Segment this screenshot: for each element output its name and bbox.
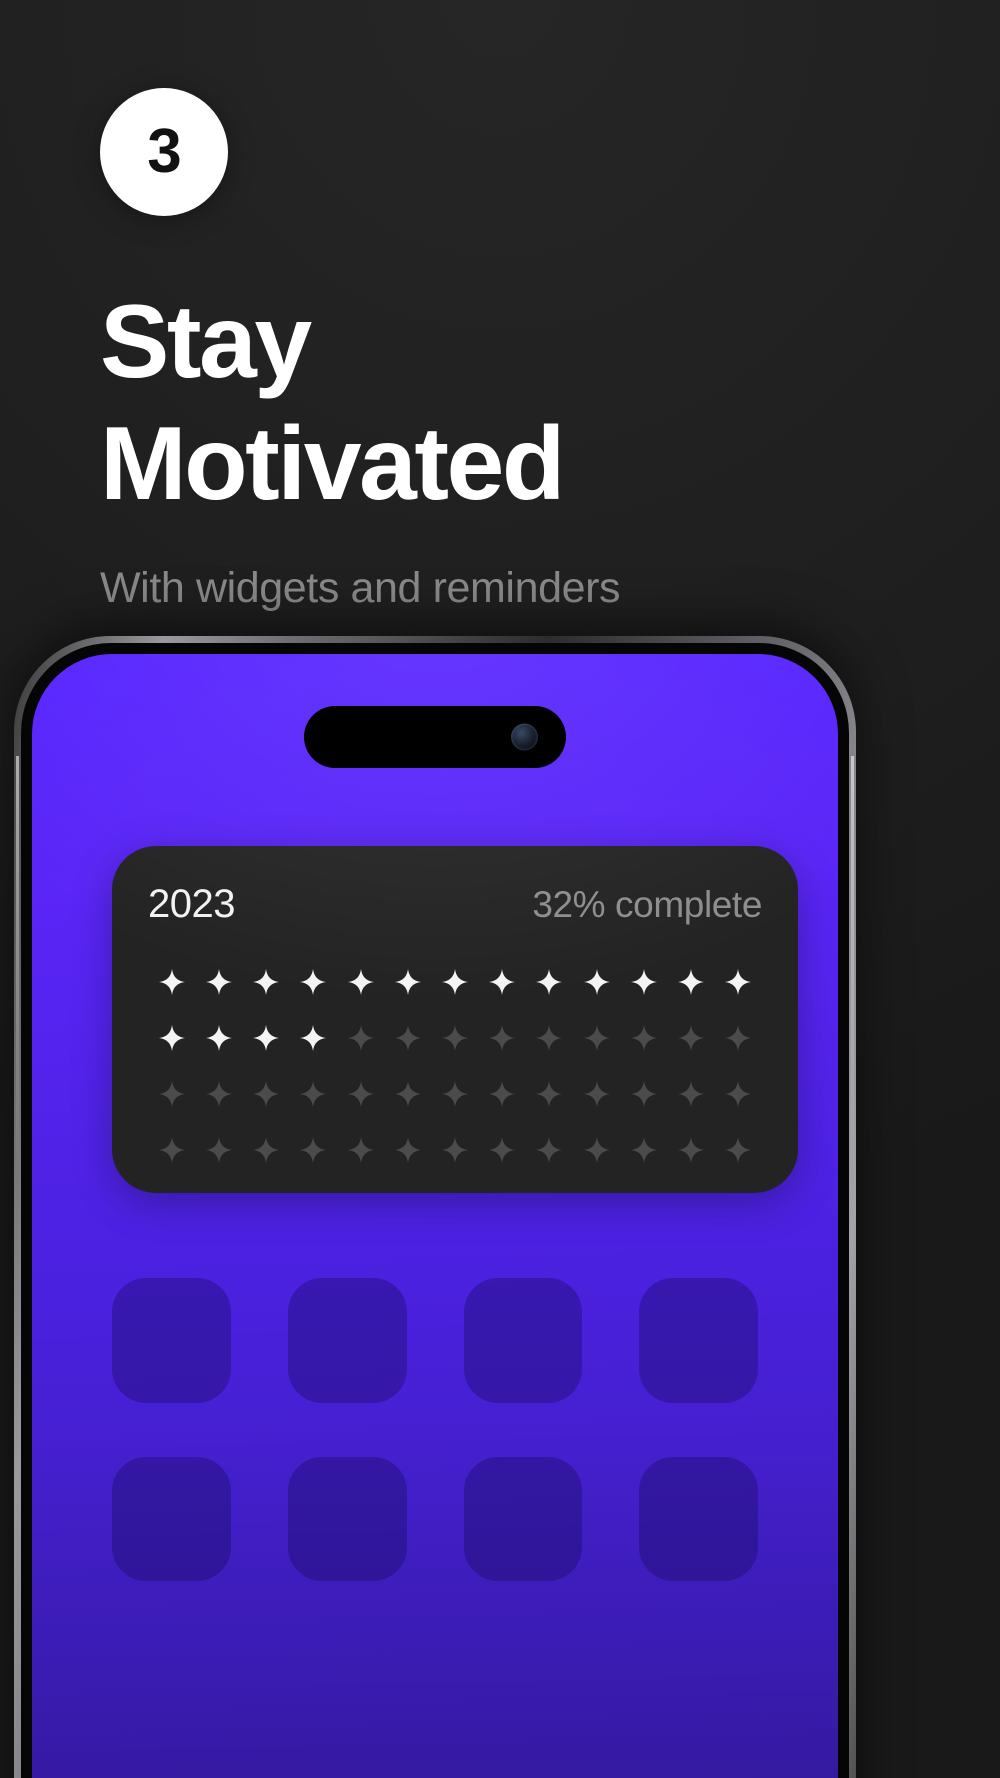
progress-dot-empty [584,1081,610,1107]
dynamic-island [304,706,566,768]
step-number-label: 3 [147,121,180,183]
progress-dot-filled [584,969,610,995]
progress-dot-empty [678,1137,704,1163]
promo-slide: 3 Stay Motivated With widgets and remind… [0,0,1000,1778]
progress-dot-filled [300,1025,326,1051]
progress-dot-empty [584,1025,610,1051]
progress-dot-empty [584,1137,610,1163]
progress-dot-empty [678,1081,704,1107]
progress-dot-filled [442,969,468,995]
progress-dot-filled [159,1025,185,1051]
progress-dot-empty [536,1081,562,1107]
frame-highlight-right [851,756,854,1176]
progress-dot-empty [206,1137,232,1163]
progress-dot-empty [395,1081,421,1107]
progress-dot-filled [631,969,657,995]
progress-dot-empty [300,1081,326,1107]
progress-dot-filled [678,969,704,995]
progress-dot-empty [348,1137,374,1163]
progress-dot-filled [253,1025,279,1051]
progress-dot-empty [348,1081,374,1107]
widget-year-label: 2023 [148,882,235,927]
progress-dot-empty [159,1137,185,1163]
copy-block: 3 Stay Motivated With widgets and remind… [100,88,920,615]
progress-dot-empty [442,1137,468,1163]
phone-bezel: 2023 32% complete [21,643,849,1778]
progress-dot-empty [536,1137,562,1163]
progress-dot-filled [395,969,421,995]
app-icon-placeholder[interactable] [639,1457,758,1582]
progress-dot-filled [253,969,279,995]
step-number-badge: 3 [100,88,228,216]
progress-dot-empty [300,1137,326,1163]
progress-dot-empty [253,1081,279,1107]
progress-dot-empty [489,1081,515,1107]
progress-dot-filled [300,969,326,995]
progress-dot-filled [536,969,562,995]
progress-dot-filled [489,969,515,995]
app-icon-placeholder[interactable] [288,1457,407,1582]
progress-dot-grid [148,969,762,1163]
progress-dot-empty [489,1137,515,1163]
app-icon-placeholder[interactable] [464,1278,583,1403]
app-icon-placeholder[interactable] [112,1457,231,1582]
progress-dot-empty [442,1081,468,1107]
progress-dot-empty [253,1137,279,1163]
widget-progress-label: 32% complete [532,884,762,926]
progress-dot-empty [725,1081,751,1107]
progress-dot-empty [536,1025,562,1051]
progress-dot-empty [348,1025,374,1051]
progress-dot-empty [725,1025,751,1051]
progress-dot-empty [395,1025,421,1051]
progress-dot-empty [631,1081,657,1107]
home-screen-app-grid [112,1278,758,1581]
front-camera-lens-icon [511,724,538,751]
progress-dot-empty [442,1025,468,1051]
app-icon-placeholder[interactable] [639,1278,758,1403]
page-subtitle: With widgets and reminders [100,563,920,615]
progress-dot-empty [678,1025,704,1051]
screen-glare-overlay [32,654,838,1778]
progress-dot-empty [725,1137,751,1163]
app-icon-placeholder[interactable] [288,1278,407,1403]
progress-dot-empty [206,1081,232,1107]
progress-dot-filled [206,969,232,995]
progress-dot-empty [159,1081,185,1107]
progress-dot-empty [395,1137,421,1163]
progress-dot-filled [348,969,374,995]
phone-mockup: 2023 32% complete [14,636,856,1778]
widget-header: 2023 32% complete [148,882,762,927]
phone-screen: 2023 32% complete [32,654,838,1778]
progress-dot-empty [489,1025,515,1051]
year-progress-widget[interactable]: 2023 32% complete [112,846,798,1193]
frame-highlight-left [16,756,19,1176]
progress-dot-empty [631,1137,657,1163]
progress-dot-filled [206,1025,232,1051]
progress-dot-empty [631,1025,657,1051]
page-title: Stay Motivated [100,282,920,525]
app-icon-placeholder[interactable] [464,1457,583,1582]
app-icon-placeholder[interactable] [112,1278,231,1403]
progress-dot-filled [725,969,751,995]
progress-dot-filled [159,969,185,995]
